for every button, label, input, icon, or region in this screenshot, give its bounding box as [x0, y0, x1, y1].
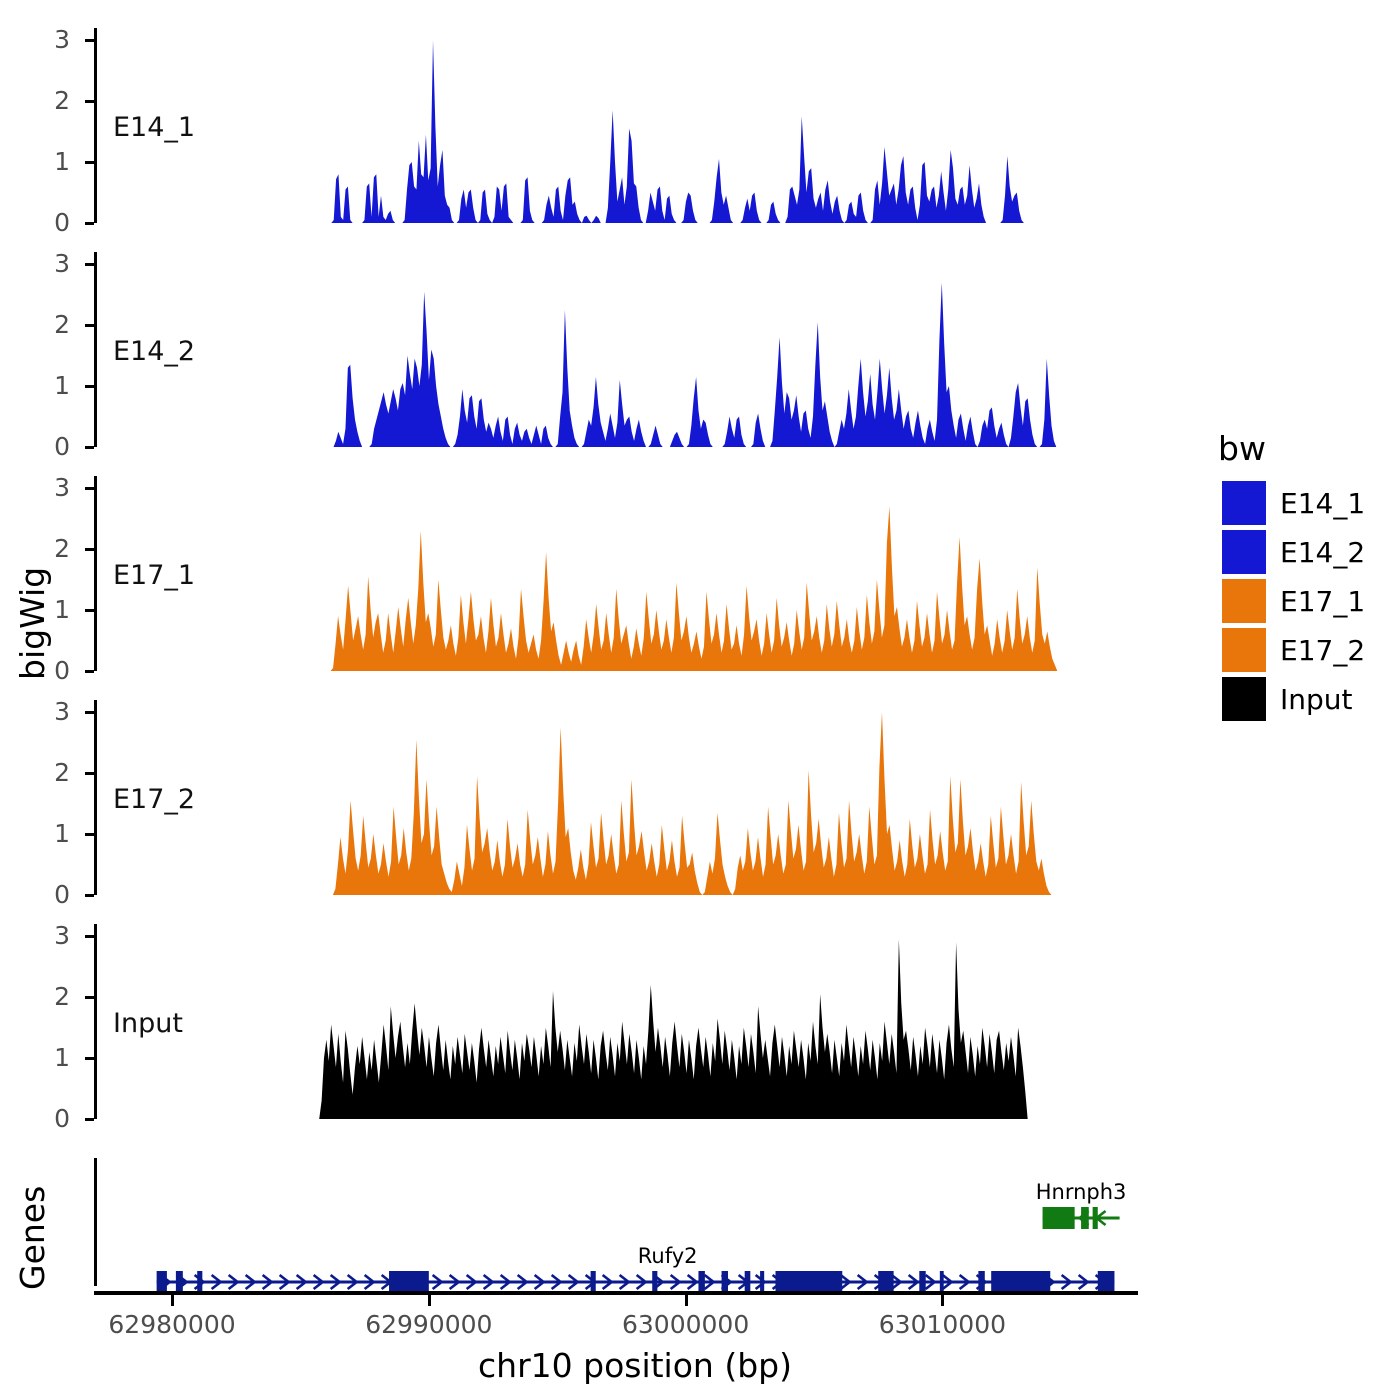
- legend-swatch-e14_2: [1222, 530, 1266, 574]
- y-tick-mark: [85, 100, 94, 103]
- gene-rufy2[interactable]: [157, 1271, 1115, 1293]
- x-axis-title: chr10 position (bp): [0, 1349, 1270, 1382]
- signal-track-e17_2: [95, 700, 1135, 895]
- y-tick-label: 0: [30, 882, 70, 907]
- y-tick-mark: [85, 609, 94, 612]
- y-tick-label: 3: [30, 251, 70, 276]
- y-tick-mark: [85, 385, 94, 388]
- legend-label-e17_1: E17_1: [1280, 588, 1365, 616]
- legend-swatch-e17_2: [1222, 628, 1266, 672]
- y-tick-mark: [85, 324, 94, 327]
- y-tick-mark: [85, 161, 94, 164]
- y-tick-label: 3: [30, 923, 70, 948]
- y-tick-label: 3: [30, 27, 70, 52]
- y-tick-mark: [85, 1057, 94, 1060]
- legend-swatch-e14_1: [1222, 481, 1266, 525]
- y-tick-mark: [85, 772, 94, 775]
- legend-swatch-e17_1: [1222, 579, 1266, 623]
- y-tick-label: 2: [30, 312, 70, 337]
- x-tick-mark: [171, 1295, 174, 1306]
- x-tick-label: 63010000: [832, 1312, 1052, 1337]
- signal-track-e17_1: [95, 476, 1135, 671]
- y-tick-label: 1: [30, 821, 70, 846]
- x-axis-line: [94, 1291, 1138, 1295]
- y-tick-label: 2: [30, 984, 70, 1009]
- x-tick-label: 62990000: [319, 1312, 539, 1337]
- y-tick-mark: [85, 263, 94, 266]
- y-tick-label: 1: [30, 373, 70, 398]
- y-tick-mark: [85, 935, 94, 938]
- y-tick-mark: [85, 222, 94, 225]
- y-tick-label: 2: [30, 88, 70, 113]
- y-tick-mark: [85, 1118, 94, 1121]
- y-tick-label: 1: [30, 597, 70, 622]
- y-tick-label: 2: [30, 536, 70, 561]
- y-tick-mark: [85, 487, 94, 490]
- x-tick-label: 63000000: [576, 1312, 796, 1337]
- legend-label-e14_1: E14_1: [1280, 490, 1365, 518]
- signal-track-e14_1: [95, 28, 1135, 223]
- y-tick-mark: [85, 548, 94, 551]
- y-tick-mark: [85, 670, 94, 673]
- legend-label-e17_2: E17_2: [1280, 637, 1365, 665]
- legend-label-input: Input: [1280, 686, 1353, 714]
- y-tick-mark: [85, 894, 94, 897]
- y-tick-label: 1: [30, 149, 70, 174]
- y-tick-mark: [85, 446, 94, 449]
- y-tick-mark: [85, 833, 94, 836]
- signal-track-input: [95, 924, 1135, 1119]
- y-tick-label: 0: [30, 210, 70, 235]
- y-tick-mark: [85, 39, 94, 42]
- x-tick-mark: [941, 1295, 944, 1306]
- y-tick-label: 2: [30, 760, 70, 785]
- signal-track-e14_2: [95, 252, 1135, 447]
- x-tick-label: 62980000: [62, 1312, 282, 1337]
- y-tick-label: 3: [30, 699, 70, 724]
- figure-root: bigWig Genes 0123E14_10123E14_20123E17_1…: [0, 0, 1400, 1400]
- legend-label-e14_2: E14_2: [1280, 539, 1365, 567]
- y-tick-label: 0: [30, 1106, 70, 1131]
- x-tick-mark: [685, 1295, 688, 1306]
- legend-swatch-input: [1222, 677, 1266, 721]
- y-tick-mark: [85, 996, 94, 999]
- gene-hnrnph3[interactable]: [1043, 1207, 1120, 1229]
- gene-models: [0, 1158, 1400, 1300]
- y-tick-mark: [85, 711, 94, 714]
- y-tick-label: 1: [30, 1045, 70, 1070]
- x-tick-mark: [428, 1295, 431, 1306]
- y-tick-label: 3: [30, 475, 70, 500]
- legend-title: bw: [1218, 432, 1266, 465]
- y-tick-label: 0: [30, 434, 70, 459]
- y-tick-label: 0: [30, 658, 70, 683]
